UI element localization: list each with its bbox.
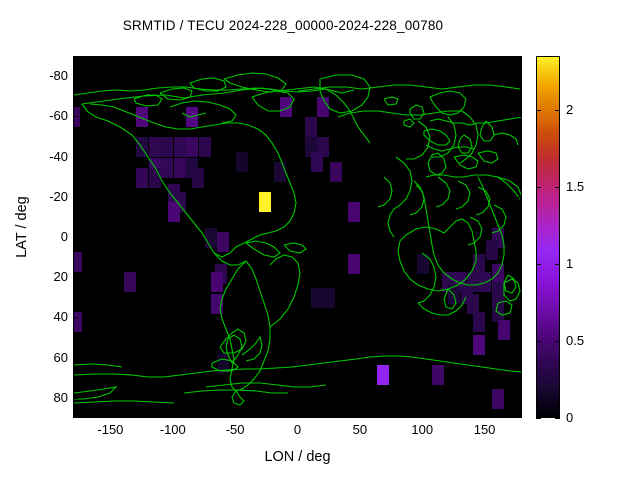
y-tick-mark [517,197,522,198]
x-tick-mark [173,413,174,418]
y-tick-mark [517,76,522,77]
map-plot-area[interactable] [73,56,522,418]
y-tick-mark [73,237,78,238]
y-tick-mark [517,277,522,278]
y-tick-mark [517,116,522,117]
x-tick-mark [110,57,111,62]
y-tick-mark [73,76,78,77]
x-tick-mark [485,57,486,62]
x-tick-label: -100 [143,422,203,437]
y-tick-label: 0 [28,229,68,244]
y-tick-label: -40 [28,149,68,164]
colorbar-tick-mark [555,264,560,265]
colorbar-tick-label: 2 [566,102,616,117]
y-tick-label: 60 [28,350,68,365]
x-tick-mark [235,57,236,62]
x-tick-label: 0 [268,422,328,437]
y-tick-label: 20 [28,269,68,284]
x-tick-label: 50 [330,422,390,437]
colorbar-tick-label: 0 [566,410,616,425]
y-tick-label: -60 [28,108,68,123]
y-tick-mark [517,398,522,399]
coastline-overlay [74,57,522,418]
x-tick-mark [110,413,111,418]
y-tick-mark [73,317,78,318]
x-tick-mark [235,413,236,418]
x-tick-label: 150 [455,422,515,437]
colorbar-tick-mark [555,187,560,188]
x-axis-label: LON / deg [73,449,522,465]
y-tick-mark [73,358,78,359]
y-tick-mark [73,197,78,198]
colorbar-tick-mark [555,418,560,419]
x-tick-label: -50 [205,422,265,437]
x-tick-mark [298,413,299,418]
y-tick-mark [517,358,522,359]
y-tick-label: -80 [28,68,68,83]
y-tick-mark [73,157,78,158]
colorbar-tick-mark [536,264,541,265]
colorbar-tick-label: 0.5 [566,333,616,348]
figure-canvas: SRMTID / TECU 2024-228_00000-2024-228_00… [0,0,640,480]
x-axis-ticks: -150-100-50050100150 [73,420,522,444]
x-tick-mark [360,57,361,62]
y-tick-label: 40 [28,309,68,324]
x-tick-mark [298,57,299,62]
y-tick-label: 80 [28,390,68,405]
x-tick-mark [173,57,174,62]
colorbar-tick-mark [536,110,541,111]
colorbar-tick-mark [555,341,560,342]
x-tick-mark [485,413,486,418]
colorbar-tick-mark [536,341,541,342]
y-tick-mark [517,157,522,158]
colorbar-tick-mark [536,187,541,188]
y-tick-mark [517,317,522,318]
x-tick-label: 100 [392,422,452,437]
y-tick-mark [73,277,78,278]
x-tick-mark [422,57,423,62]
y-tick-mark [73,116,78,117]
colorbar-tick-mark [555,110,560,111]
x-tick-mark [360,413,361,418]
y-tick-mark [517,237,522,238]
colorbar-tick-mark [536,418,541,419]
colorbar-tick-labels: 00.511.52 [566,56,626,418]
colorbar-tick-label: 1.5 [566,179,616,194]
y-tick-label: -20 [28,189,68,204]
y-axis-label: LAT / deg [14,137,30,317]
x-tick-label: -150 [80,422,140,437]
y-tick-mark [73,398,78,399]
x-tick-mark [422,413,423,418]
colorbar-tick-label: 1 [566,256,616,271]
chart-title: SRMTID / TECU 2024-228_00000-2024-228_00… [0,18,566,33]
